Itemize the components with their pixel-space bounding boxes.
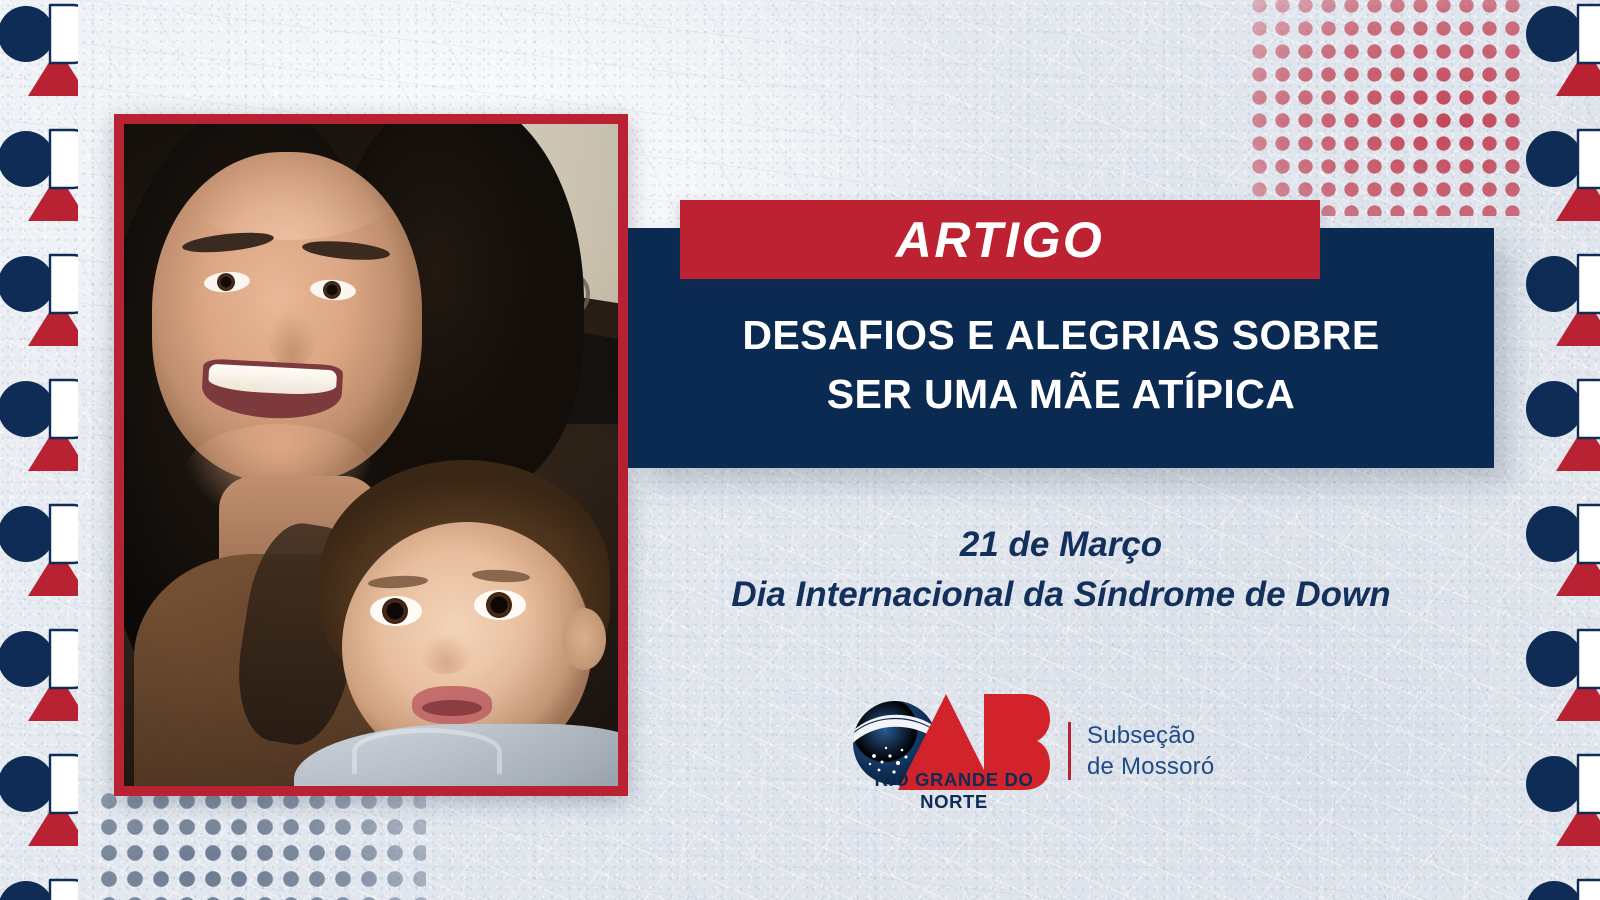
oab-letter-o-icon (0, 881, 54, 900)
halftone-dots-top-right (1248, 0, 1528, 216)
oab-letter-b-icon (1576, 878, 1600, 900)
oab-letter-b-icon (48, 378, 78, 440)
oab-motif-unit (0, 625, 78, 750)
oab-border-pattern-right (1522, 0, 1600, 900)
oab-letter-b-icon (48, 3, 78, 65)
oab-logo-mark: RIO GRANDE DO NORTE (846, 694, 1058, 814)
photo-vignette (124, 124, 618, 786)
oab-subsection-line-2: de Mossoró (1087, 752, 1214, 783)
oab-motif-unit (1522, 250, 1600, 375)
logo-divider (1068, 722, 1071, 780)
oab-motif-unit (1522, 875, 1600, 900)
oab-letter-b-icon (1576, 3, 1600, 65)
event-date: 21 de Março (628, 520, 1494, 570)
oab-letter-b-icon (1576, 753, 1600, 815)
oab-letter-b-icon (48, 253, 78, 315)
oab-logo: RIO GRANDE DO NORTE Subseção de Mossoró (846, 694, 1266, 814)
oab-letter-b-icon (48, 878, 78, 900)
oab-motif-unit (0, 375, 78, 500)
oab-motif-unit (0, 875, 78, 900)
oab-motif-unit (0, 750, 78, 875)
poster-canvas: DESAFIOS E ALEGRIAS SOBRE SER UMA MÃE AT… (0, 0, 1600, 900)
oab-subsection: Subseção de Mossoró (1087, 721, 1214, 786)
halftone-dots-bottom-left (96, 788, 426, 900)
article-title-line-2: SER UMA MÃE ATÍPICA (646, 365, 1476, 424)
oab-letter-b-icon (48, 128, 78, 190)
oab-letter-b-icon (48, 503, 78, 565)
oab-motif-unit (1522, 375, 1600, 500)
oab-border-pattern-left (0, 0, 78, 900)
artigo-label: ARTIGO (896, 215, 1105, 265)
photo-mother-and-baby (124, 124, 618, 786)
artigo-banner: ARTIGO (680, 200, 1320, 279)
event-name: Dia Internacional da Síndrome de Down (628, 570, 1494, 620)
oab-motif-unit (1522, 0, 1600, 125)
oab-letter-b-icon (1576, 503, 1600, 565)
oab-logo-state: RIO GRANDE DO NORTE (850, 769, 1058, 813)
event-date-block: 21 de Março Dia Internacional da Síndrom… (628, 520, 1494, 619)
oab-motif-unit (1522, 750, 1600, 875)
oab-letter-b-icon (48, 628, 78, 690)
article-title-line-1: DESAFIOS E ALEGRIAS SOBRE (646, 306, 1476, 365)
article-title: DESAFIOS E ALEGRIAS SOBRE SER UMA MÃE AT… (628, 306, 1494, 425)
oab-letter-b-icon (1576, 128, 1600, 190)
oab-letter-b-icon (1576, 628, 1600, 690)
oab-letter-b-icon (1576, 253, 1600, 315)
oab-motif-unit (1522, 125, 1600, 250)
photo-frame (114, 114, 628, 796)
oab-subsection-line-1: Subseção (1087, 721, 1214, 752)
oab-motif-unit (0, 125, 78, 250)
oab-letter-b-icon (1576, 378, 1600, 440)
oab-motif-unit (0, 500, 78, 625)
oab-letter-b-icon (48, 753, 78, 815)
oab-motif-unit (1522, 625, 1600, 750)
oab-motif-unit (1522, 500, 1600, 625)
oab-motif-unit (0, 0, 78, 125)
oab-motif-unit (0, 250, 78, 375)
oab-letter-o-icon (1526, 881, 1582, 900)
